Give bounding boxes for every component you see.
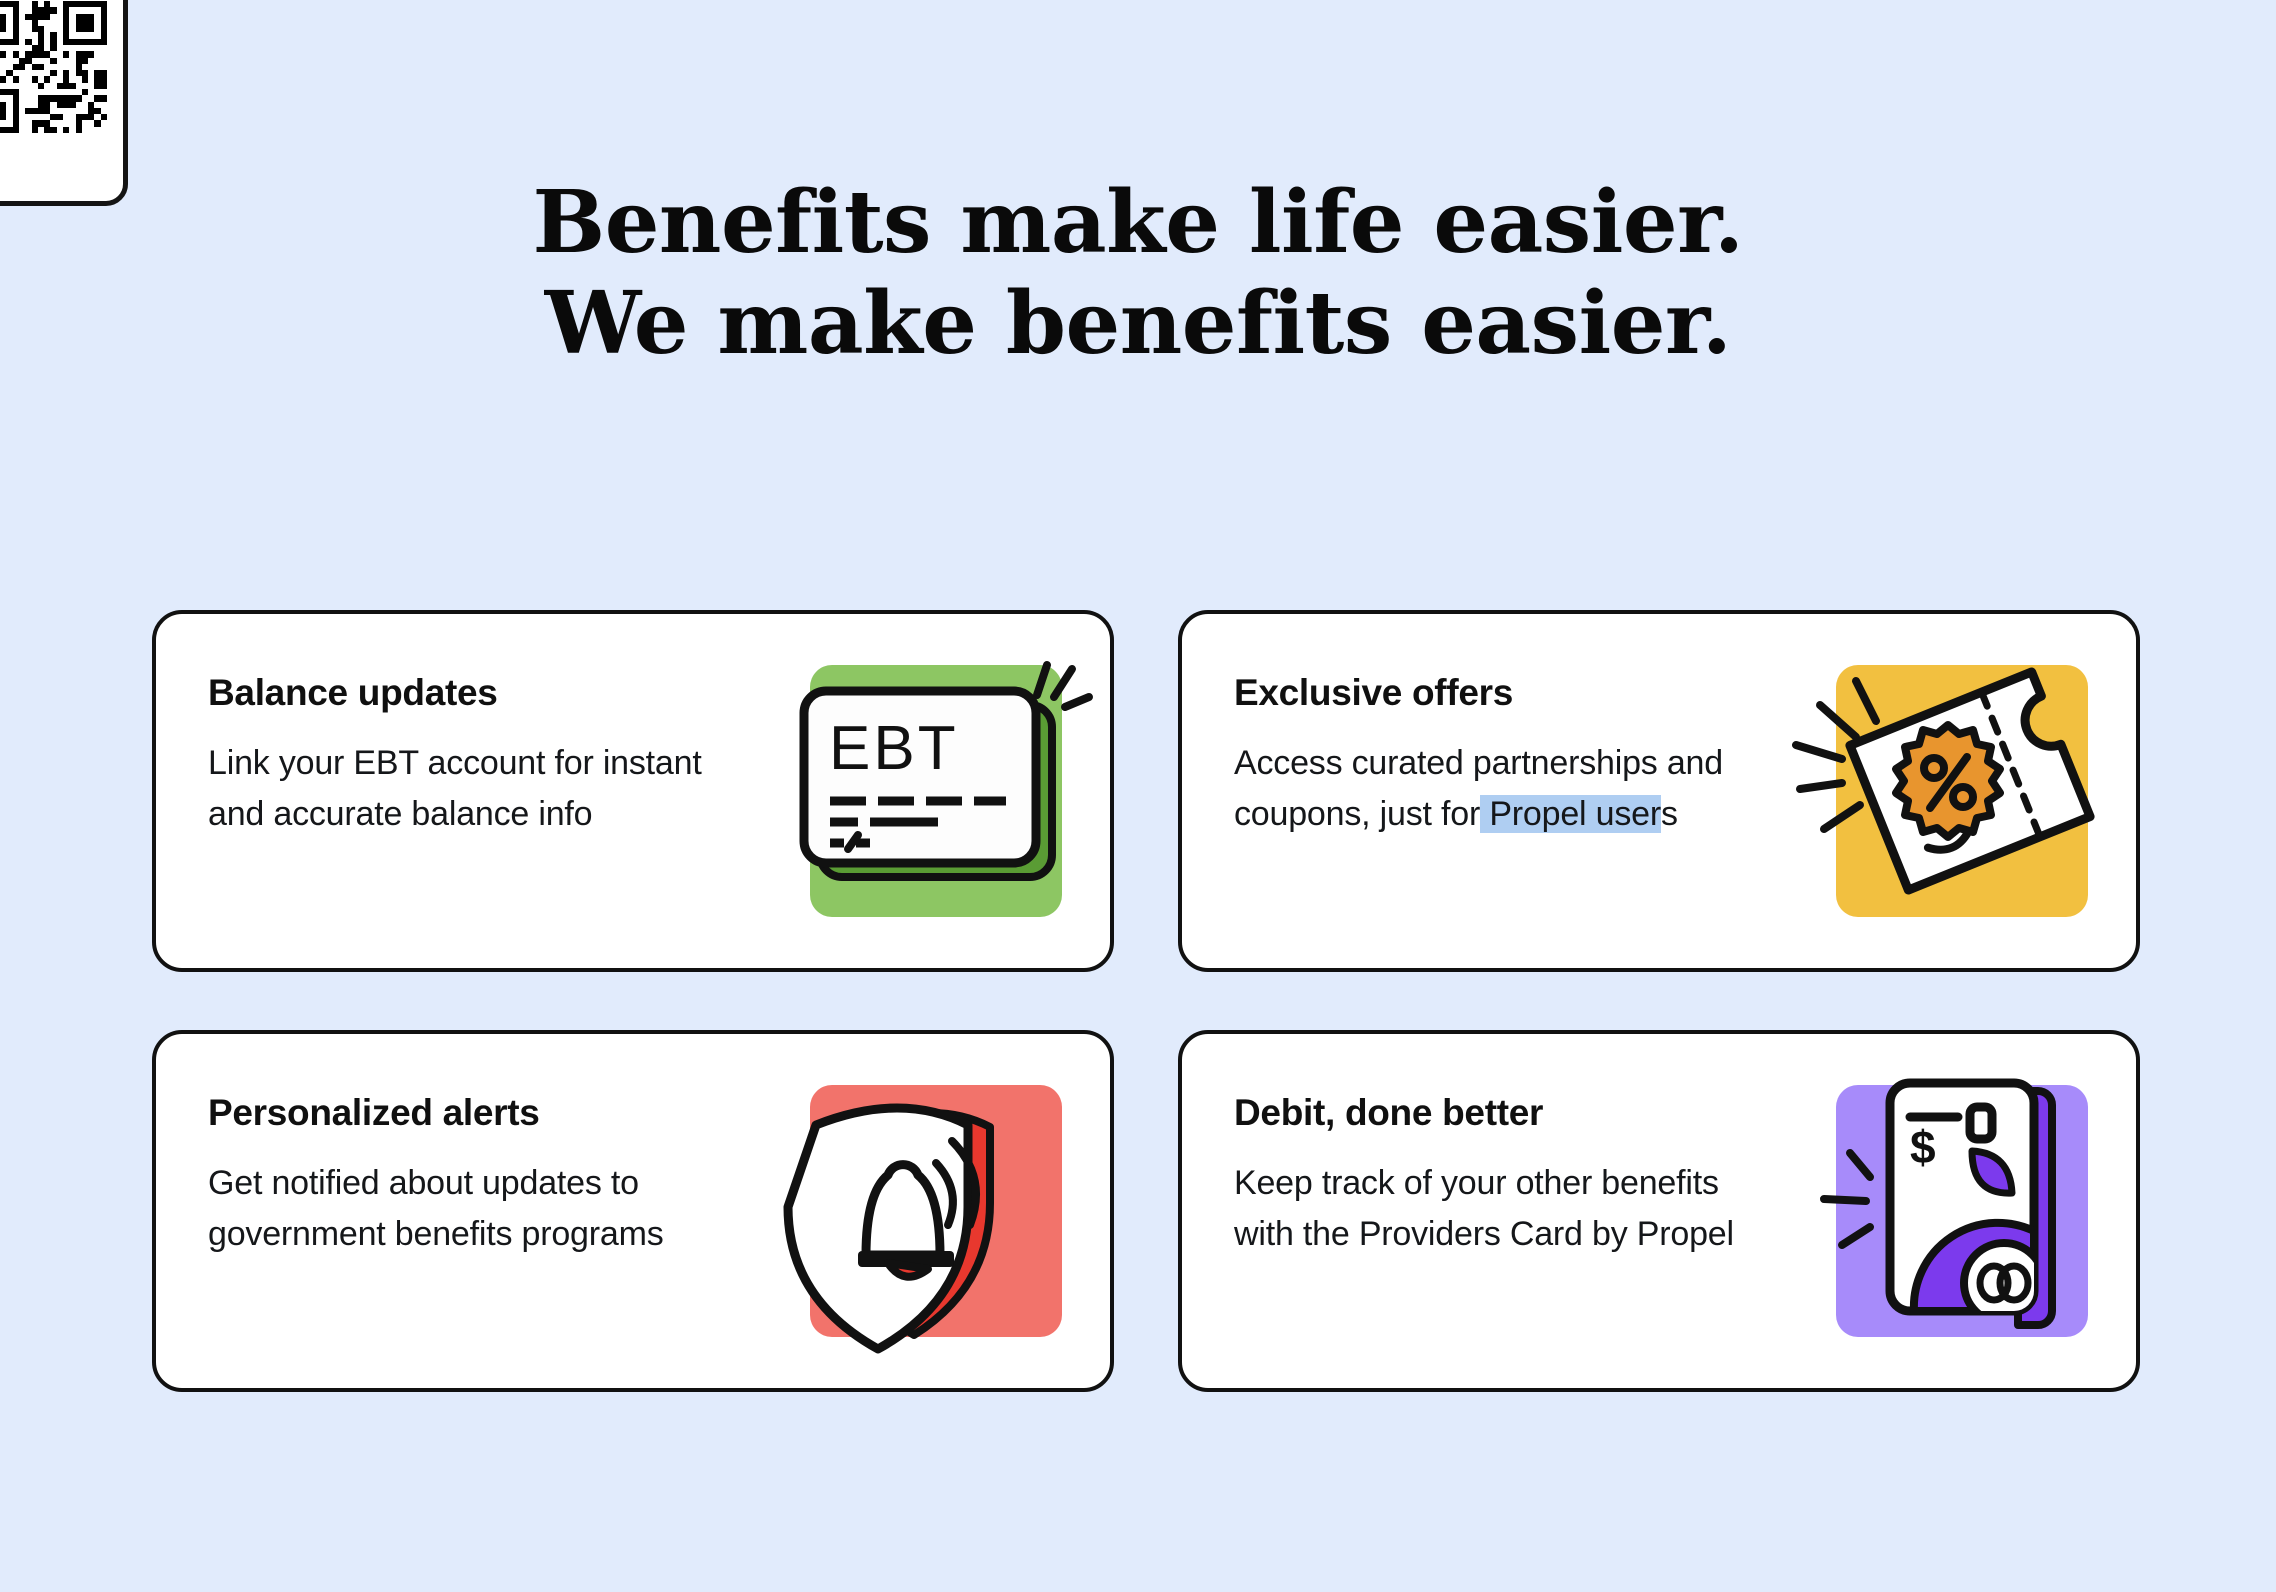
card-description-line-1: Get notified about updates to — [208, 1164, 639, 1202]
qr-code-icon — [0, 1, 107, 133]
card-description: Get notified about updates to government… — [208, 1158, 768, 1260]
svg-text:EBT: EBT — [829, 714, 959, 783]
ebt-card-icon: EBT — [754, 629, 1114, 953]
feature-card-debit-done-better[interactable]: Debit, done better Keep track of your ot… — [1178, 1030, 2140, 1392]
card-description-line-1: Access curated partnerships and — [1234, 744, 1723, 782]
card-text-block: Balance updates Link your EBT account fo… — [208, 672, 768, 840]
svg-text:$: $ — [1910, 1121, 1936, 1173]
card-description-line-1: Link your EBT account for instant — [208, 744, 702, 782]
icon-tile-green: EBT — [810, 665, 1062, 917]
headline-line-2: We make benefits easier. — [0, 273, 2276, 374]
icon-tile-yellow — [1836, 665, 2088, 917]
feature-card-personalized-alerts[interactable]: Personalized alerts Get notified about u… — [152, 1030, 1114, 1392]
providers-debit-card-icon: $ — [1806, 1059, 2126, 1363]
card-description-line-2-prefix: coupons, just for — [1234, 795, 1480, 833]
shield-bell-alert-icon — [754, 1049, 1114, 1373]
card-title: Personalized alerts — [208, 1092, 768, 1134]
card-description-line-2: with the Providers Card by Propel — [1234, 1215, 1734, 1253]
selected-text-propel-users: Propel user — [1480, 795, 1661, 833]
feature-card-exclusive-offers[interactable]: Exclusive offers Access curated partners… — [1178, 610, 2140, 972]
feature-card-balance-updates[interactable]: Balance updates Link your EBT account fo… — [152, 610, 1114, 972]
card-description: Keep track of your other benefits with t… — [1234, 1158, 1794, 1260]
card-description-line-2: and accurate balance info — [208, 795, 592, 833]
card-text-block: Exclusive offers Access curated partners… — [1234, 672, 1794, 840]
card-description: Access curated partnerships and coupons,… — [1234, 738, 1794, 840]
card-text-block: Debit, done better Keep track of your ot… — [1234, 1092, 1794, 1260]
card-description-line-1: Keep track of your other benefits — [1234, 1164, 1719, 1202]
feature-card-grid: Balance updates Link your EBT account fo… — [152, 610, 2140, 1392]
card-title: Debit, done better — [1234, 1092, 1794, 1134]
card-description: Link your EBT account for instant and ac… — [208, 738, 768, 840]
card-title: Balance updates — [208, 672, 768, 714]
card-text-block: Personalized alerts Get notified about u… — [208, 1092, 768, 1260]
icon-tile-red — [810, 1085, 1062, 1337]
discount-coupon-icon — [1780, 629, 2140, 953]
page-headline: Benefits make life easier. We make benef… — [0, 172, 2276, 375]
card-title: Exclusive offers — [1234, 672, 1794, 714]
card-description-line-2: government benefits programs — [208, 1215, 664, 1253]
icon-tile-purple: $ — [1836, 1085, 2088, 1337]
card-description-line-2-suffix: s — [1661, 795, 1678, 833]
headline-line-1: Benefits make life easier. — [0, 172, 2276, 273]
